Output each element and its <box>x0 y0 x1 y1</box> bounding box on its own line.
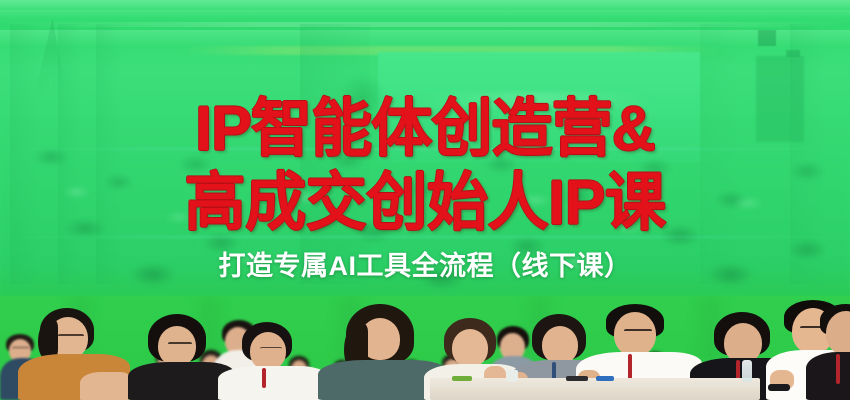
marker-pen <box>452 376 472 381</box>
exit-sign <box>786 50 800 57</box>
attendee-front-left <box>18 308 130 400</box>
attendee-front-far-right <box>806 304 850 400</box>
screen-scanline <box>0 236 850 238</box>
marker-pen <box>566 376 588 381</box>
marker-pen <box>596 376 614 381</box>
potted-plant <box>340 74 386 114</box>
course-promo-banner: IP智能体创造营& 高成交创始人IP课 打造专属AI工具全流程（线下课） <box>0 0 850 400</box>
attendee-front-center-left <box>218 322 326 400</box>
foreground-attendees-band <box>0 296 850 400</box>
ceiling-light-strip <box>0 0 850 10</box>
conference-table <box>430 378 760 400</box>
wrist-watch <box>768 384 790 391</box>
water-bottle <box>742 360 752 382</box>
audience-crowd-highlights <box>0 150 850 290</box>
ceiling-speaker <box>758 30 776 46</box>
screen-scanline <box>0 148 850 150</box>
paper-cup <box>506 370 518 382</box>
projection-screen-glow <box>420 92 650 108</box>
ceiling-light-strip <box>0 10 850 17</box>
